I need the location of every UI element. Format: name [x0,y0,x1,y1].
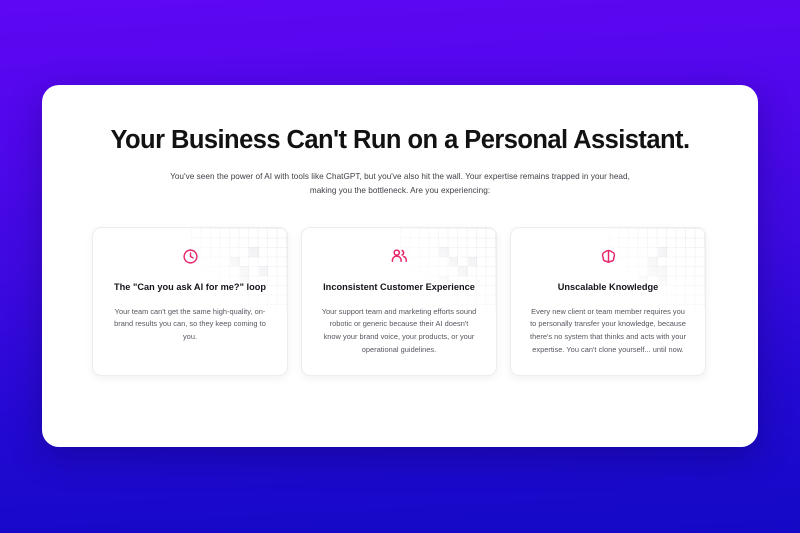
pain-point-card[interactable]: The "Can you ask AI for me?" loop Your t… [92,227,288,376]
card-description: Your team can't get the same high-qualit… [107,306,273,345]
decorative-grid-pattern [609,228,705,310]
card-title: Inconsistent Customer Experience [316,281,482,295]
pain-point-card[interactable]: Inconsistent Customer Experience Your su… [301,227,497,376]
card-description: Your support team and marketing efforts … [316,306,482,358]
decorative-grid-pattern [191,228,287,310]
page-background: Your Business Can't Run on a Personal As… [0,0,800,533]
users-icon [316,244,482,268]
card-description: Every new client or team member requires… [525,306,691,358]
brain-icon [525,244,691,268]
content-panel: Your Business Can't Run on a Personal As… [42,85,758,447]
card-title: Unscalable Knowledge [525,281,691,295]
decorative-grid-pattern [400,228,496,310]
section-subtitle: You've seen the power of AI with tools l… [170,170,630,198]
card-title: The "Can you ask AI for me?" loop [107,281,273,295]
clock-icon [107,244,273,268]
page-title: Your Business Can't Run on a Personal As… [42,126,758,154]
pain-point-card[interactable]: Unscalable Knowledge Every new client or… [510,227,706,376]
section-header: Your Business Can't Run on a Personal As… [42,85,758,198]
pain-point-card-list: The "Can you ask AI for me?" loop Your t… [92,227,708,376]
